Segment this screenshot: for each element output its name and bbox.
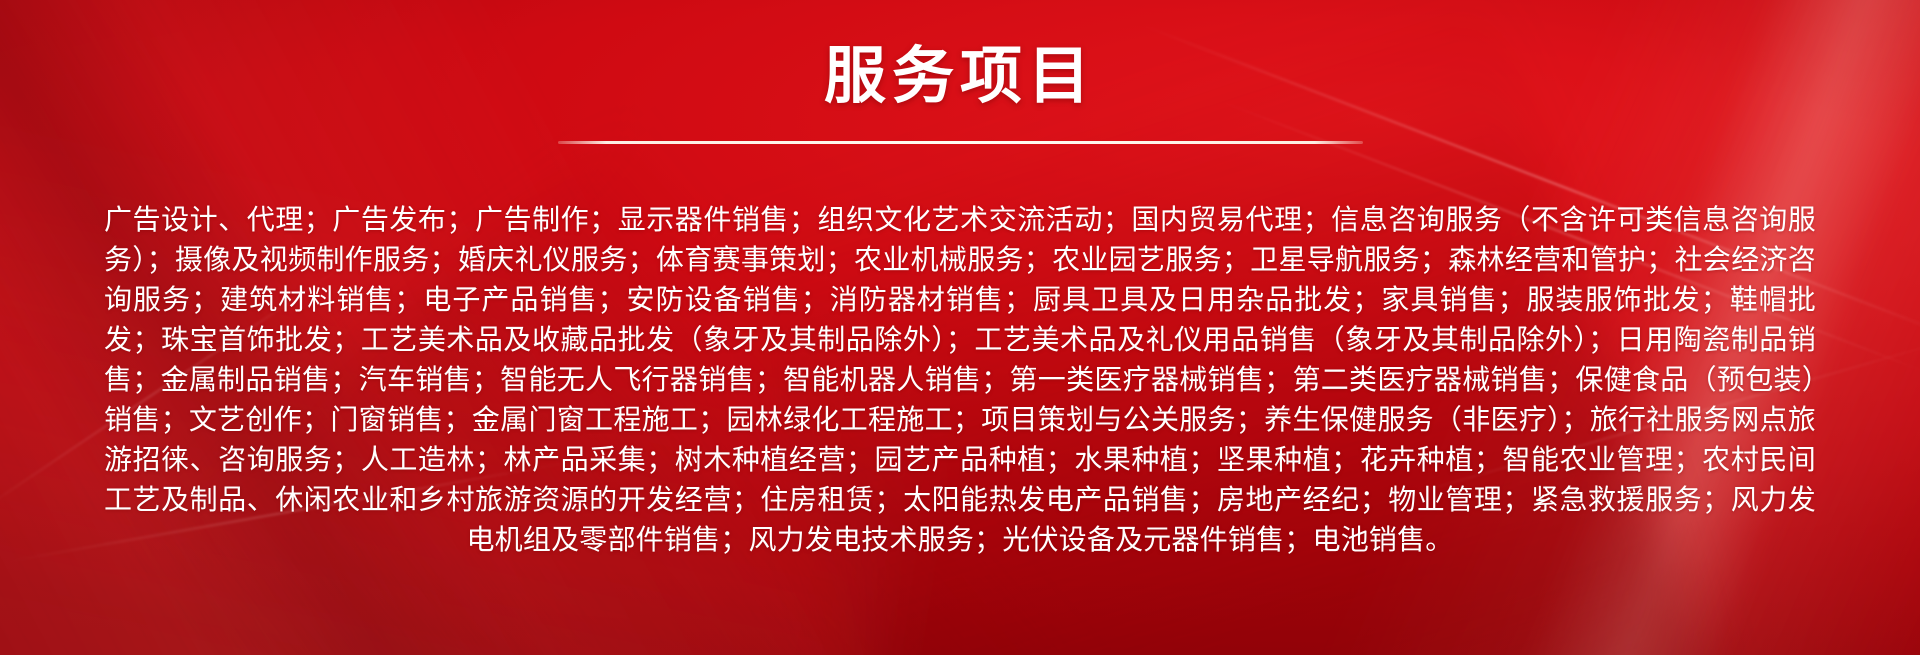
service-scope-paragraph: 广告设计、代理；广告发布；广告制作；显示器件销售；组织文化艺术交流活动；国内贸易… xyxy=(104,200,1816,560)
title-divider xyxy=(558,141,1363,144)
service-projects-banner: 服务项目 广告设计、代理；广告发布；广告制作；显示器件销售；组织文化艺术交流活动… xyxy=(0,0,1920,655)
banner-header: 服务项目 xyxy=(0,44,1920,144)
body-content: 广告设计、代理；广告发布；广告制作；显示器件销售；组织文化艺术交流活动；国内贸易… xyxy=(104,200,1816,560)
page-title: 服务项目 xyxy=(824,44,1096,109)
